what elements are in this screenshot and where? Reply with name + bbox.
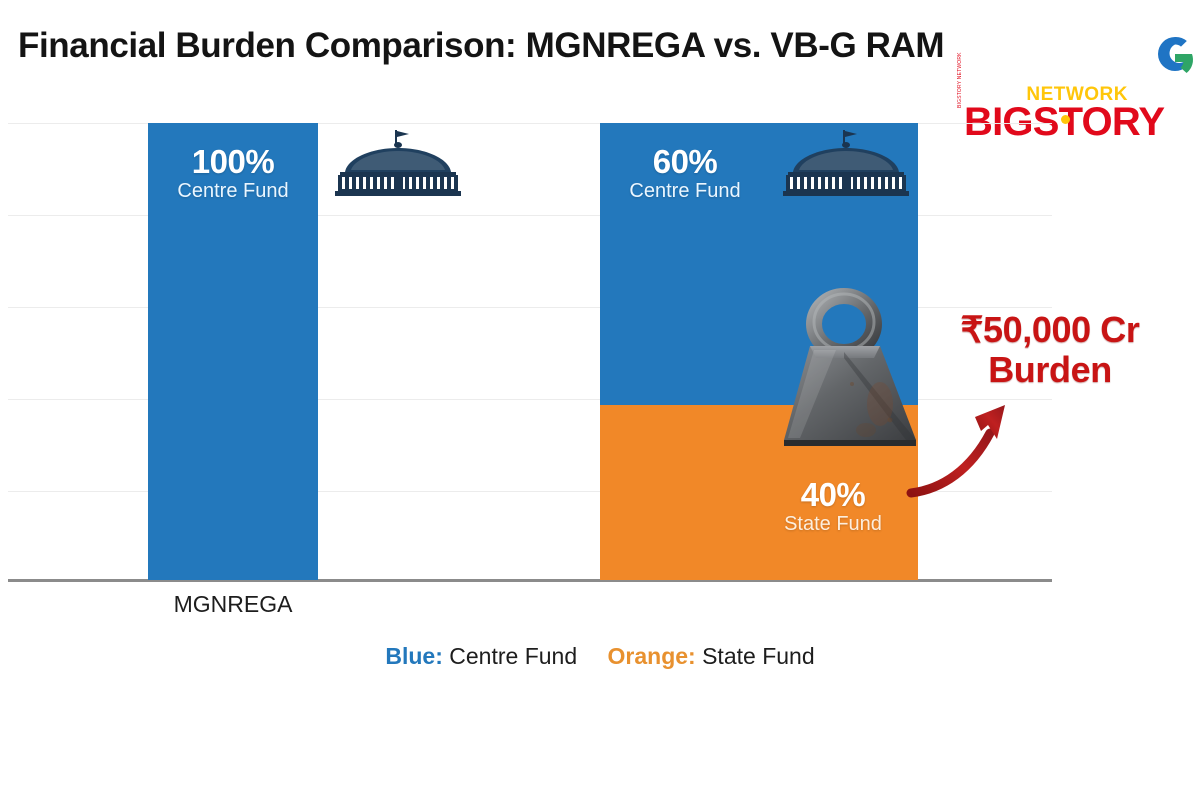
bar-label-vbgram-state: 40% State Fund — [748, 478, 918, 535]
burden-word-line: Burden — [988, 349, 1112, 390]
x-axis-category-label-mgnrega: MGNREGA — [148, 591, 318, 618]
curved-arrow-icon — [905, 395, 1025, 505]
watermark-side-text: BIGSTORY NETWORK — [957, 52, 963, 108]
bar-percent-value: 60% — [600, 145, 770, 180]
legend-key-orange: Orange: — [608, 643, 696, 669]
parliament-icon — [330, 128, 466, 198]
bar-series-name: State Fund — [748, 514, 918, 535]
parliament-icon — [778, 128, 914, 198]
burden-annotation: ₹50,000 Cr Burden — [918, 310, 1182, 391]
bar-percent-value: 100% — [148, 145, 318, 180]
chart-legend: Blue: Centre Fund Orange: State Fund — [0, 643, 1200, 670]
legend-item-state-fund: Orange: State Fund — [608, 643, 815, 670]
page-title: Financial Burden Comparison: MGNREGA vs.… — [18, 26, 1148, 66]
legend-key-blue: Blue: — [385, 643, 443, 669]
bar-label-vbgram-centre: 60% Centre Fund — [600, 145, 770, 202]
burden-amount-line: ₹50,000 Cr — [960, 309, 1139, 350]
legend-value-state-fund: State Fund — [702, 643, 815, 669]
bar-percent-value: 40% — [748, 478, 918, 513]
bar-series-name: Centre Fund — [600, 181, 770, 202]
watermark-dot-icon — [1061, 115, 1070, 124]
bar-label-mgnrega-centre: 100% Centre Fund — [148, 145, 318, 202]
legend-item-centre-fund: Blue: Centre Fund — [385, 643, 577, 670]
weight-icon — [770, 288, 922, 453]
bar-series-name: Centre Fund — [148, 181, 318, 202]
google-g-icon — [1152, 31, 1198, 77]
legend-value-centre-fund: Centre Fund — [449, 643, 577, 669]
